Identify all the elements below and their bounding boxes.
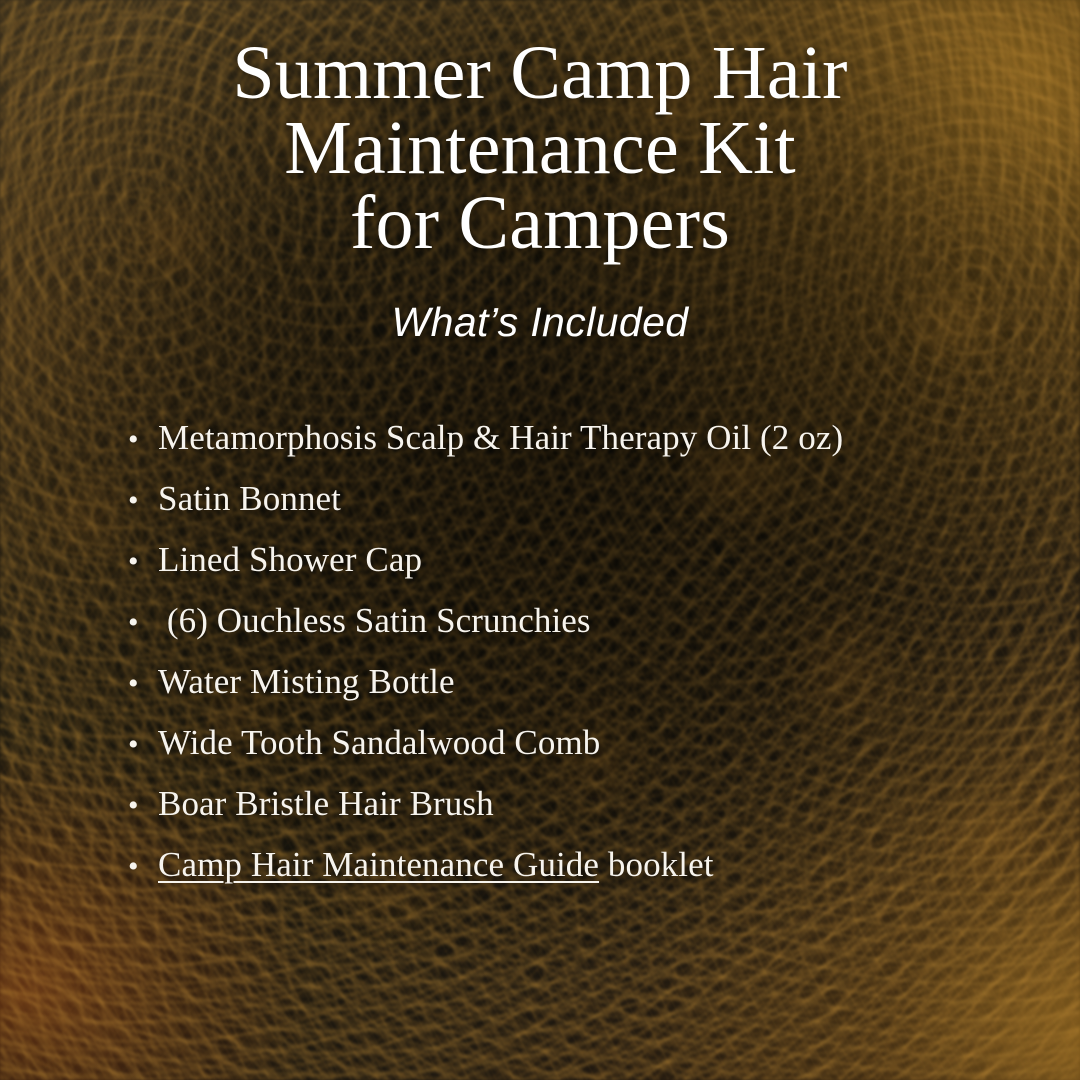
bullet-icon: • bbox=[128, 723, 158, 767]
poster-title: Summer Camp Hair Maintenance Kit for Cam… bbox=[0, 36, 1080, 261]
list-item: • Camp Hair Maintenance Guide booklet bbox=[128, 843, 1040, 904]
list-item: • Boar Bristle Hair Brush bbox=[128, 782, 1040, 843]
list-item-label: (6) Ouchless Satin Scrunchies bbox=[158, 599, 591, 643]
list-item: • Lined Shower Cap bbox=[128, 538, 1040, 599]
poster-content: Summer Camp Hair Maintenance Kit for Cam… bbox=[0, 0, 1080, 1080]
subtitle-whats-included: What’s Included bbox=[0, 298, 1080, 346]
list-item-label: Metamorphosis Scalp & Hair Therapy Oil (… bbox=[158, 416, 843, 460]
bullet-icon: • bbox=[128, 479, 158, 523]
list-item-label: Boar Bristle Hair Brush bbox=[158, 782, 494, 826]
bullet-icon: • bbox=[128, 784, 158, 828]
bullet-icon: • bbox=[128, 662, 158, 706]
title-line-2: Maintenance Kit bbox=[0, 111, 1080, 186]
bullet-icon: • bbox=[128, 601, 158, 645]
bullet-icon: • bbox=[128, 845, 158, 889]
list-item-label: Satin Bonnet bbox=[158, 477, 341, 521]
poster-canvas: Summer Camp Hair Maintenance Kit for Cam… bbox=[0, 0, 1080, 1080]
list-item-label: Water Misting Bottle bbox=[158, 660, 455, 704]
list-item: • Satin Bonnet bbox=[128, 477, 1040, 538]
list-item-label: Lined Shower Cap bbox=[158, 538, 422, 582]
title-line-3: for Campers bbox=[0, 186, 1080, 261]
bullet-icon: • bbox=[128, 418, 158, 462]
list-item: • Water Misting Bottle bbox=[128, 660, 1040, 721]
title-line-1: Summer Camp Hair bbox=[0, 36, 1080, 111]
list-item: • Wide Tooth Sandalwood Comb bbox=[128, 721, 1040, 782]
list-item: • (6) Ouchless Satin Scrunchies bbox=[128, 599, 1040, 660]
list-item-guide-suffix: booklet bbox=[599, 843, 714, 887]
list-item: • Metamorphosis Scalp & Hair Therapy Oil… bbox=[128, 416, 1040, 477]
bullet-icon: • bbox=[128, 540, 158, 584]
included-items-list: • Metamorphosis Scalp & Hair Therapy Oil… bbox=[128, 416, 1040, 904]
list-item-guide-link[interactable]: Camp Hair Maintenance Guide bbox=[158, 843, 599, 887]
list-item-label: Wide Tooth Sandalwood Comb bbox=[158, 721, 600, 765]
